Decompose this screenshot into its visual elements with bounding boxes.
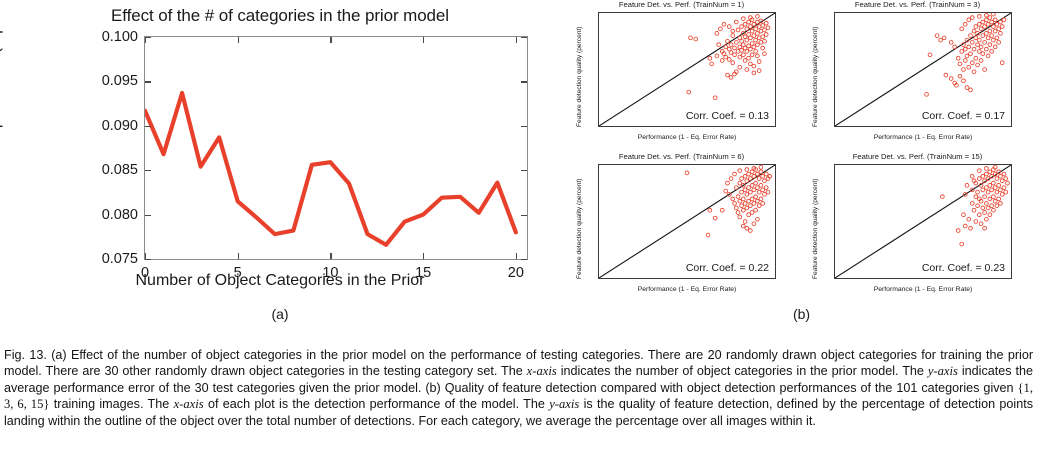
scatter-point — [752, 188, 756, 192]
y-tick-mark — [521, 215, 527, 216]
caption-x-axis-token-2: x-axis — [174, 397, 204, 411]
caption-y-axis-token-2: y-axis — [549, 397, 579, 411]
y-axis-label: av. perf. error (equal error rate) — [0, 0, 6, 155]
scatter-point — [748, 36, 752, 40]
scatter-point — [984, 167, 988, 171]
scatter-point — [967, 18, 971, 22]
scatter-point — [976, 204, 980, 208]
scatter-point — [724, 45, 728, 49]
y-tick-mark — [145, 126, 151, 127]
scatter-point — [757, 60, 761, 64]
scatter-point — [763, 52, 767, 56]
x-tick-mark — [423, 37, 424, 43]
scatter-point — [757, 69, 761, 73]
scatter-point — [960, 242, 964, 246]
scatter-point — [740, 204, 744, 208]
scatter-point — [981, 206, 985, 210]
line-series — [145, 93, 516, 245]
scatter-point — [756, 15, 760, 19]
scatter-cell-trainnum-6: Feature Det. vs. Perf. (TrainNum = 6) Fe… — [566, 152, 797, 302]
scatter-point — [981, 52, 985, 56]
caption-part-b-3: of each plot is the detection performanc… — [208, 397, 545, 411]
scatter-point — [969, 226, 973, 230]
scatter-point — [997, 183, 1001, 187]
scatter-point — [970, 202, 974, 206]
scatter-point — [752, 174, 756, 178]
scatter-point — [750, 183, 754, 187]
scatter-y-axis-label: Feature detection quality (percent) — [812, 27, 819, 127]
scatter-point — [963, 59, 967, 63]
scatter-x-axis-label: Performance (1 - Eq. Error Rate) — [834, 134, 1012, 141]
scatter-point — [748, 62, 752, 66]
y-tick-mark — [145, 215, 151, 216]
scatter-point — [988, 43, 992, 47]
scatter-title: Feature Det. vs. Perf. (TrainNum = 15) — [802, 152, 1033, 161]
scatter-point — [733, 46, 737, 50]
scatter-point — [983, 211, 987, 215]
scatter-point — [741, 17, 745, 21]
scatter-point — [741, 224, 745, 228]
y-tick-mark — [521, 170, 527, 171]
scatter-point — [986, 22, 990, 26]
scatter-point — [984, 47, 988, 51]
scatter-point — [983, 68, 987, 72]
scatter-point — [981, 188, 985, 192]
scatter-point — [743, 174, 747, 178]
scatter-point — [740, 48, 744, 52]
y-tick-mark — [521, 37, 527, 38]
scatter-point — [984, 186, 988, 190]
scatter-point — [726, 39, 730, 43]
scatter-point — [999, 188, 1003, 192]
scatter-point — [731, 29, 735, 33]
scatter-point — [972, 29, 976, 33]
scatter-point — [736, 211, 740, 215]
caption-x-axis-token-1: x-axis — [527, 364, 557, 378]
figure-13: Effect of the # of categories in the pri… — [0, 0, 1037, 464]
scatter-point — [756, 199, 760, 203]
scatter-title: Feature Det. vs. Perf. (TrainNum = 6) — [566, 152, 797, 161]
scatter-point — [981, 34, 985, 38]
scatter-point — [731, 34, 735, 38]
scatter-point — [981, 20, 985, 24]
scatter-point — [752, 71, 756, 75]
scatter-point — [988, 213, 992, 217]
scatter-point — [734, 206, 738, 210]
plot-area: 0.0750.0800.0850.0900.0950.10005101520 — [144, 36, 528, 260]
scatter-point — [972, 47, 976, 51]
scatter-point — [761, 46, 765, 50]
scatter-point — [999, 202, 1003, 206]
corr-coef-label: Corr. Coef. = 0.22 — [686, 262, 769, 274]
scatter-point — [988, 16, 992, 20]
scatter-point — [741, 197, 745, 201]
scatter-point — [733, 53, 737, 57]
scatter-point — [750, 29, 754, 33]
scatter-point — [960, 50, 964, 54]
scatter-point — [741, 208, 745, 212]
scatter-point — [999, 20, 1003, 24]
scatter-point — [972, 208, 976, 212]
scatter-point — [763, 28, 767, 32]
scatter-point — [717, 43, 721, 47]
scatter-point — [986, 36, 990, 40]
scatter-point — [977, 50, 981, 54]
line-series-svg — [145, 37, 527, 259]
x-tick-mark — [516, 37, 517, 43]
scatter-point — [962, 213, 966, 217]
scatter-point — [756, 217, 760, 221]
scatter-point — [764, 172, 768, 176]
scatter-point — [731, 197, 735, 201]
x-tick-mark — [423, 253, 424, 259]
panel-b-sublabel: (b) — [566, 306, 1037, 322]
scatter-point — [965, 54, 969, 58]
scatter-point — [759, 165, 763, 169]
scatter-point — [977, 15, 981, 19]
scatter-y-axis-label: Feature detection quality (percent) — [576, 179, 583, 279]
scatter-point — [743, 188, 747, 192]
scatter-point — [970, 174, 974, 178]
scatter-point — [992, 38, 996, 42]
scatter-point — [988, 183, 992, 187]
scatter-point — [763, 193, 767, 197]
scatter-point — [988, 29, 992, 33]
scatter-point — [940, 195, 944, 199]
scatter-point — [928, 53, 932, 57]
scatter-x-axis-label: Performance (1 - Eq. Error Rate) — [598, 134, 776, 141]
scatter-point — [727, 25, 731, 29]
scatter-point — [719, 27, 723, 31]
scatter-point — [1000, 25, 1004, 29]
scatter-plot-area: Corr. Coef. = 0.22 00.10.20.30.40.50.60.… — [598, 164, 776, 279]
caption-prefix: Fig. 13. — [4, 348, 47, 362]
x-axis-label: Number of Object Categories in the Prior — [0, 272, 560, 290]
scatter-point — [997, 41, 1001, 45]
scatter-point — [757, 190, 761, 194]
scatter-point — [986, 54, 990, 58]
scatter-point — [726, 73, 730, 77]
scatter-point — [997, 197, 1001, 201]
scatter-point — [1004, 177, 1008, 181]
scatter-point — [715, 31, 719, 35]
scatter-point — [733, 172, 737, 176]
scatter-point — [761, 174, 765, 178]
x-tick-mark — [516, 253, 517, 259]
scatter-point — [986, 206, 990, 210]
scatter-point — [977, 169, 981, 173]
scatter-point — [984, 31, 988, 35]
scatter-point — [983, 25, 987, 29]
scatter-point — [745, 27, 749, 31]
scatter-point — [974, 220, 978, 224]
scatter-point — [1000, 179, 1004, 183]
scatter-point — [761, 35, 765, 39]
scatter-point — [1000, 193, 1004, 197]
y-tick-mark — [145, 170, 151, 171]
scatter-point — [761, 202, 765, 206]
caption-part-b-2: training images. The — [54, 397, 170, 411]
scatter-point — [720, 208, 724, 212]
scatter-point — [925, 92, 929, 96]
scatter-point — [997, 27, 1001, 31]
figure-caption: Fig. 13. (a) Effect of the number of obj… — [4, 347, 1033, 429]
scatter-point — [963, 224, 967, 228]
scatter-x-axis-label: Performance (1 - Eq. Error Rate) — [598, 286, 776, 293]
scatter-point — [736, 28, 740, 32]
scatter-point — [752, 22, 756, 26]
scatter-point — [974, 25, 978, 29]
scatter-point — [738, 181, 742, 185]
scatter-point — [993, 18, 997, 22]
scatter-point — [694, 37, 698, 41]
scatter-cell-trainnum-15: Feature Det. vs. Perf. (TrainNum = 15) F… — [802, 152, 1033, 302]
scatter-point — [752, 64, 756, 68]
scatter-point — [733, 202, 737, 206]
scatter-point — [747, 186, 751, 190]
scatter-point — [752, 202, 756, 206]
x-tick-mark — [145, 253, 146, 259]
y-tick-label: 0.085 — [102, 162, 138, 178]
scatter-point — [963, 22, 967, 26]
scatter-point — [748, 204, 752, 208]
scatter-point — [1002, 18, 1006, 22]
scatter-point — [992, 25, 996, 29]
scatter-point — [756, 186, 760, 190]
scatter-point — [979, 27, 983, 31]
scatter-point — [993, 29, 997, 33]
scatter-point — [967, 217, 971, 221]
scatter-point — [960, 27, 964, 31]
scatter-cell-trainnum-1: Feature Det. vs. Perf. (TrainNum = 1) Fe… — [566, 0, 797, 150]
corr-coef-label: Corr. Coef. = 0.17 — [922, 110, 1005, 122]
scatter-point — [990, 20, 994, 24]
scatter-point — [740, 177, 744, 181]
scatter-point — [713, 216, 717, 220]
scatter-point — [974, 36, 978, 40]
scatter-point — [988, 170, 992, 174]
scatter-point — [727, 57, 731, 61]
scatter-point — [979, 59, 983, 63]
scatter-point — [974, 195, 978, 199]
scatter-point — [754, 50, 758, 54]
scatter-y-axis-label: Feature detection quality (percent) — [812, 179, 819, 279]
scatter-point — [734, 41, 738, 45]
scatter-cell-trainnum-3: Feature Det. vs. Perf. (TrainNum = 3) Fe… — [802, 0, 1033, 150]
scatter-point — [965, 183, 969, 187]
scatter-point — [763, 39, 767, 43]
scatter-point — [752, 222, 756, 226]
scatter-point — [969, 52, 973, 56]
scatter-point — [935, 34, 939, 38]
scatter-point — [743, 22, 747, 26]
scatter-point — [748, 190, 752, 194]
scatter-point — [752, 45, 756, 49]
scatter-point — [710, 62, 714, 66]
scatter-point — [995, 36, 999, 40]
scatter-point — [999, 31, 1003, 35]
panel-b-scatter-grid: Feature Det. vs. Perf. (TrainNum = 1) Fe… — [566, 0, 1037, 305]
corr-coef-label: Corr. Coef. = 0.13 — [686, 110, 769, 122]
scatter-point — [984, 217, 988, 221]
scatter-point — [944, 73, 948, 77]
corr-coef-label: Corr. Coef. = 0.23 — [922, 262, 1005, 274]
scatter-point — [965, 86, 969, 90]
scatter-point — [738, 169, 742, 173]
scatter-point — [745, 193, 749, 197]
scatter-point — [731, 61, 735, 65]
scatter-point — [967, 65, 971, 69]
scatter-point — [990, 50, 994, 54]
scatter-point — [969, 34, 973, 38]
scatter-point — [724, 55, 728, 59]
x-tick-mark — [238, 253, 239, 259]
scatter-point — [939, 38, 943, 42]
scatter-point — [740, 25, 744, 29]
scatter-point — [992, 208, 996, 212]
scatter-point — [685, 171, 689, 175]
scatter-point — [750, 211, 754, 215]
scatter-point — [1004, 190, 1008, 194]
scatter-point — [745, 206, 749, 210]
scatter-point — [972, 70, 976, 74]
scatter-point — [986, 190, 990, 194]
y-tick-label: 0.095 — [102, 73, 138, 89]
scatter-point — [1002, 172, 1006, 176]
scatter-point — [747, 56, 751, 60]
scatter-point — [990, 188, 994, 192]
scatter-point — [689, 36, 693, 40]
y-tick-mark — [521, 126, 527, 127]
scatter-point — [729, 43, 733, 47]
scatter-point — [752, 34, 756, 38]
scatter-point — [995, 204, 999, 208]
scatter-point — [759, 170, 763, 174]
y-tick-mark — [521, 259, 527, 260]
scatter-point — [977, 22, 981, 26]
scatter-point — [990, 34, 994, 38]
scatter-point — [977, 38, 981, 42]
scatter-point — [747, 20, 751, 24]
scatter-point — [754, 27, 758, 31]
scatter-point — [756, 54, 760, 58]
caption-part-b: (b) Quality of feature detection compare… — [425, 381, 1013, 395]
scatter-point — [764, 186, 768, 190]
scatter-point — [756, 172, 760, 176]
scatter-point — [745, 38, 749, 42]
scatter-point — [734, 186, 738, 190]
scatter-point — [990, 204, 994, 208]
caption-part-a-2: indicates the number of object categorie… — [561, 364, 924, 378]
scatter-point — [977, 213, 981, 217]
scatter-point — [761, 24, 765, 28]
scatter-point — [963, 47, 967, 51]
scatter-point — [715, 54, 719, 58]
scatter-point — [984, 13, 988, 17]
scatter-point — [748, 177, 752, 181]
scatter-point — [747, 213, 751, 217]
scatter-plot-area: Corr. Coef. = 0.23 00.10.20.30.40.50.60.… — [834, 164, 1012, 279]
scatter-point — [745, 179, 749, 183]
y-tick-label: 0.080 — [102, 207, 138, 223]
scatter-point — [754, 38, 758, 42]
scatter-point — [984, 172, 988, 176]
scatter-point — [766, 26, 770, 30]
scatter-point — [738, 199, 742, 203]
x-tick-mark — [145, 37, 146, 43]
scatter-point — [745, 68, 749, 72]
scatter-title: Feature Det. vs. Perf. (TrainNum = 3) — [802, 0, 1033, 9]
chart-title: Effect of the # of categories in the pri… — [0, 6, 560, 26]
scatter-point — [988, 197, 992, 201]
scatter-point — [745, 50, 749, 54]
scatter-point — [956, 56, 960, 60]
scatter-point — [976, 190, 980, 194]
scatter-point — [750, 53, 754, 57]
scatter-point — [1002, 186, 1006, 190]
scatter-point — [981, 174, 985, 178]
scatter-point — [958, 62, 962, 66]
scatter-point — [750, 197, 754, 201]
scatter-point — [724, 189, 728, 193]
caption-y-axis-token-1: y-axis — [928, 364, 958, 378]
scatter-point — [984, 18, 988, 22]
scatter-point — [706, 233, 710, 237]
scatter-point — [748, 25, 752, 29]
x-tick-mark — [238, 37, 239, 43]
scatter-point — [970, 41, 974, 45]
scatter-point — [974, 56, 978, 60]
scatter-point — [754, 195, 758, 199]
scatter-point — [1000, 61, 1004, 65]
scatter-point — [977, 177, 981, 181]
y-tick-label: 0.100 — [102, 29, 138, 45]
scatter-point — [967, 45, 971, 49]
scatter-point — [759, 197, 763, 201]
scatter-point — [743, 220, 747, 224]
scatter-x-axis-label: Performance (1 - Eq. Error Rate) — [834, 286, 1012, 293]
scatter-point — [754, 181, 758, 185]
y-tick-mark — [521, 81, 527, 82]
scatter-point — [976, 63, 980, 67]
scatter-point — [976, 43, 980, 47]
scatter-point — [738, 215, 742, 219]
scatter-point — [708, 56, 712, 60]
scatter-point — [757, 177, 761, 181]
scatter-point — [722, 22, 726, 26]
scatter-point — [745, 168, 749, 172]
scatter-point — [979, 222, 983, 226]
scatter-point — [962, 68, 966, 72]
panel-a-line-chart: Effect of the # of categories in the pri… — [0, 0, 560, 340]
scatter-point — [999, 174, 1003, 178]
scatter-point — [764, 33, 768, 37]
scatter-point — [763, 179, 767, 183]
scatter-point — [729, 177, 733, 181]
scatter-point — [983, 226, 987, 230]
scatter-point — [759, 183, 763, 187]
scatter-point — [992, 13, 996, 16]
scatter-point — [992, 195, 996, 199]
scatter-point — [958, 74, 962, 78]
y-tick-label: 0.090 — [102, 118, 138, 134]
scatter-point — [748, 229, 752, 233]
scatter-point — [740, 190, 744, 194]
scatter-point — [953, 45, 957, 49]
scatter-point — [995, 190, 999, 194]
scatter-point — [720, 59, 724, 63]
scatter-point — [969, 88, 973, 92]
